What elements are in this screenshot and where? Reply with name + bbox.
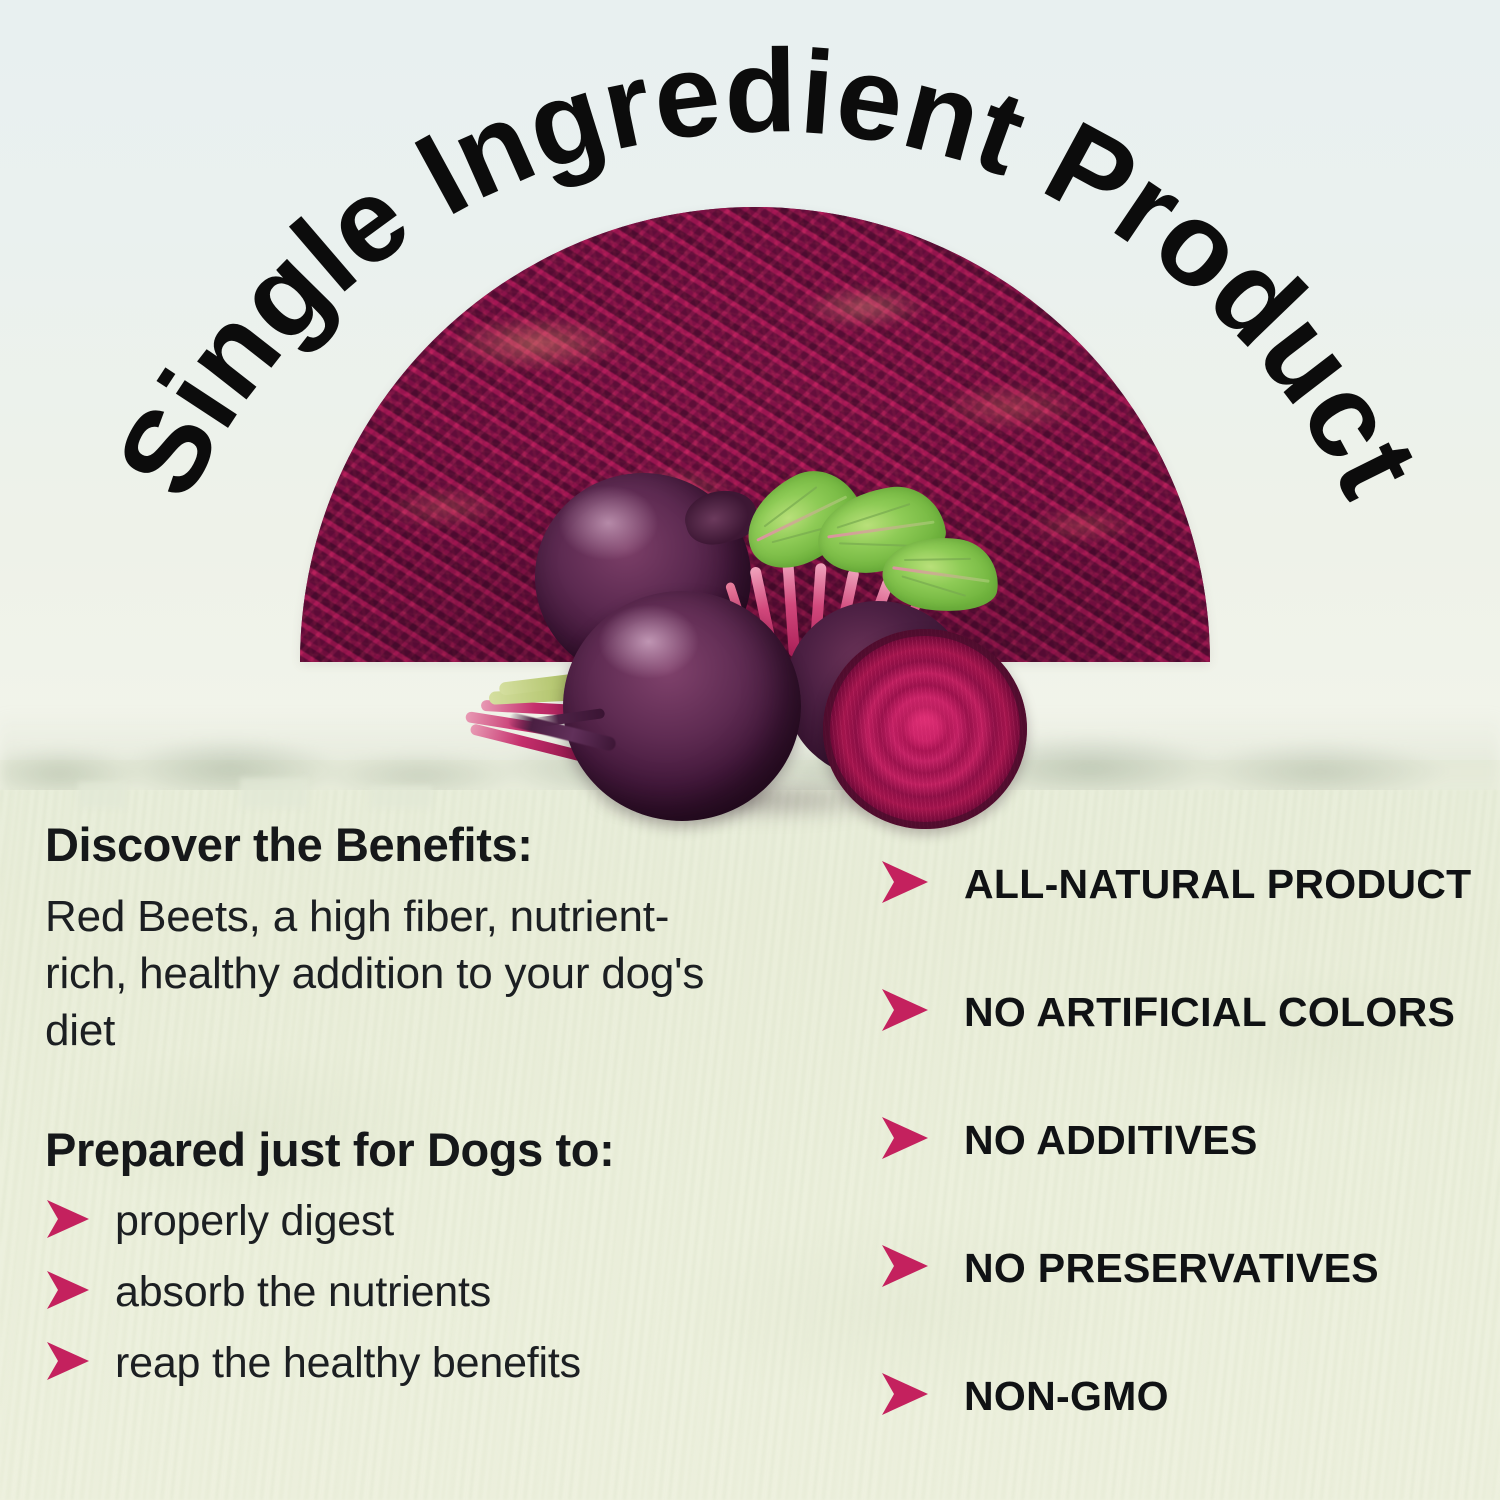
list-item: properly digest (45, 1197, 805, 1246)
claims-list: ALL-NATURAL PRODUCT NO ARTIFICIAL COLORS… (880, 820, 1480, 1460)
benefits-body: Red Beets, a high fiber, nutrient-rich, … (45, 888, 745, 1060)
arrow-right-icon (45, 1340, 91, 1387)
background-shed-left (78, 782, 126, 808)
arrow-right-icon (45, 1198, 91, 1245)
claim-label: NO PRESERVATIVES (964, 1245, 1379, 1292)
prepared-heading: Prepared just for Dogs to: (45, 1125, 805, 1175)
list-item: NO ADDITIVES (880, 1076, 1480, 1204)
benefits-column: Discover the Benefits: Red Beets, a high… (45, 820, 805, 1410)
list-item: absorb the nutrients (45, 1268, 805, 1317)
prepared-list: properly digest absorb the nutrients rea… (45, 1197, 805, 1388)
arrow-right-icon (880, 1243, 930, 1294)
arrow-right-icon (880, 859, 930, 910)
list-item: reap the healthy benefits (45, 1339, 805, 1388)
background-shed-mid (240, 778, 308, 808)
claim-label: NO ARTIFICIAL COLORS (964, 989, 1455, 1036)
arrow-right-icon (45, 1269, 91, 1316)
arrow-right-icon (880, 1115, 930, 1166)
claim-label: NO ADDITIVES (964, 1117, 1258, 1164)
claim-label: ALL-NATURAL PRODUCT (964, 861, 1472, 908)
beet-skin-rim (823, 629, 1027, 829)
claim-label: NON-GMO (964, 1373, 1169, 1420)
beet-halved-cross-section (823, 629, 1027, 829)
arrow-right-icon (880, 1371, 930, 1422)
arrow-right-icon (880, 987, 930, 1038)
list-item-label: absorb the nutrients (115, 1268, 491, 1317)
list-item: NO ARTIFICIAL COLORS (880, 948, 1480, 1076)
beet-whole-front (563, 591, 801, 821)
content-area: Discover the Benefits: Red Beets, a high… (0, 820, 1500, 1500)
fresh-beets-group (455, 425, 1075, 855)
list-item-label: reap the healthy benefits (115, 1339, 581, 1388)
list-item: NON-GMO (880, 1332, 1480, 1460)
background-shed-mid2 (370, 786, 432, 808)
claims-column: ALL-NATURAL PRODUCT NO ARTIFICIAL COLORS… (880, 820, 1480, 1460)
list-item: ALL-NATURAL PRODUCT (880, 820, 1480, 948)
list-item: NO PRESERVATIVES (880, 1204, 1480, 1332)
benefits-heading: Discover the Benefits: (45, 820, 805, 870)
list-item-label: properly digest (115, 1197, 394, 1246)
